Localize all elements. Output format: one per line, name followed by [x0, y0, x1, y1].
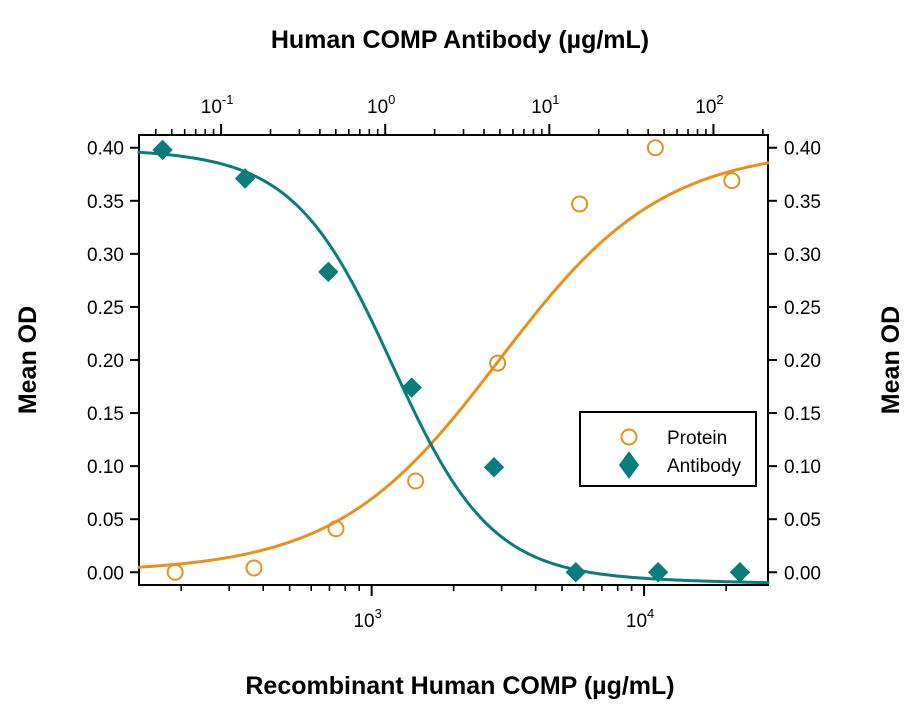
- y-tick-label-right: 0.15: [784, 404, 821, 425]
- y-tick-label-left: 0.05: [87, 510, 124, 531]
- y-tick-label-right: 0.35: [784, 192, 821, 213]
- y-tick-label-right: 0.20: [784, 351, 821, 372]
- y-tick-label-left: 0.40: [87, 139, 124, 160]
- top-axis-title: Human COMP Antibody (µg/mL): [271, 26, 649, 54]
- y-tick-label-right: 0.30: [784, 245, 821, 266]
- legend-label-protein: Protein: [667, 428, 727, 449]
- legend-label-antibody: Antibody: [667, 456, 741, 477]
- y-tick-label-left: 0.15: [87, 404, 124, 425]
- chart-figure: Human COMP Antibody (µg/mL) Recombinant …: [0, 0, 921, 718]
- y-tick-label-right: 0.10: [784, 457, 821, 478]
- bottom-axis-title: Recombinant Human COMP (µg/mL): [245, 672, 674, 700]
- y-tick-label-left: 0.35: [87, 192, 124, 213]
- y-tick-label-right: 0.40: [784, 139, 821, 160]
- right-axis-title: Mean OD: [877, 306, 905, 414]
- chart-legend: Protein Antibody: [580, 412, 756, 486]
- left-axis-title: Mean OD: [14, 306, 42, 414]
- y-tick-label-right: 0.05: [784, 510, 821, 531]
- y-tick-label-right: 0.25: [784, 298, 821, 319]
- y-tick-label-left: 0.30: [87, 245, 124, 266]
- y-tick-label-right: 0.00: [784, 563, 821, 584]
- y-tick-label-left: 0.25: [87, 298, 124, 319]
- y-tick-label-left: 0.20: [87, 351, 124, 372]
- chart-svg: Human COMP Antibody (µg/mL) Recombinant …: [0, 0, 921, 718]
- y-tick-label-left: 0.00: [87, 563, 124, 584]
- y-tick-label-left: 0.10: [87, 457, 124, 478]
